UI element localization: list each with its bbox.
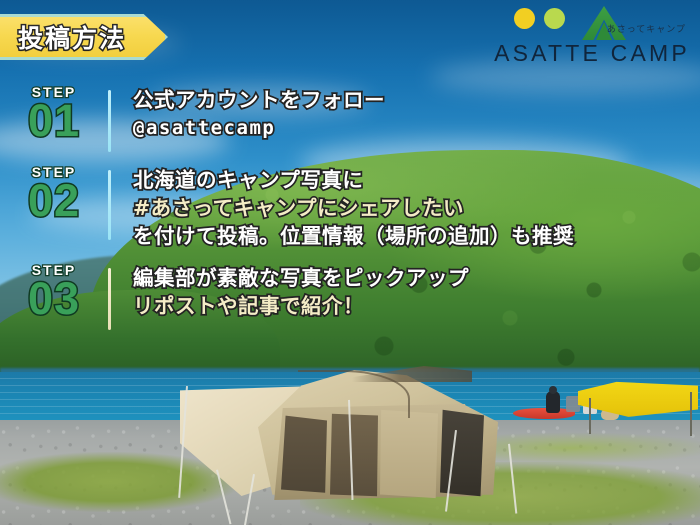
- logo-dots: [514, 8, 565, 29]
- step-number: 02: [0, 178, 108, 224]
- yellow-circle-icon: [514, 8, 535, 29]
- logo: あさってキャンプ ASATTE CAMP: [486, 6, 692, 68]
- step-number: 03: [0, 276, 108, 322]
- step-line: 編集部が素敵な写真をピックアップ: [133, 264, 700, 292]
- step-item: STEP 01 公式アカウントをフォロー @asattecamp: [0, 84, 700, 152]
- logo-subtitle: あさってキャンプ: [607, 22, 686, 35]
- steps-list: STEP 01 公式アカウントをフォロー @asattecamp STEP 02…: [0, 84, 700, 342]
- step-body: 編集部が素敵な写真をピックアップ リポストや記事で紹介！: [133, 262, 700, 320]
- step-divider: [108, 90, 111, 152]
- step-line-handle: @asattecamp: [133, 114, 700, 142]
- step-line: を付けて投稿。位置情報（場所の追加）も推奨: [133, 222, 700, 250]
- poster: 投稿方法 あさってキャンプ ASATTE CAMP STEP 01 公式アカウン…: [0, 0, 700, 525]
- step-line: リポストや記事で紹介！: [133, 292, 700, 320]
- page-title: 投稿方法: [18, 19, 126, 55]
- step-body: 北海道のキャンプ写真に #あさってキャンプにシェアしたい を付けて投稿。位置情報…: [133, 164, 700, 250]
- step-number-column: STEP 01: [0, 84, 108, 144]
- green-circle-icon: [544, 8, 565, 29]
- step-body: 公式アカウントをフォロー @asattecamp: [133, 84, 700, 142]
- step-number: 01: [0, 98, 108, 144]
- step-item: STEP 02 北海道のキャンプ写真に #あさってキャンプにシェアしたい を付け…: [0, 164, 700, 250]
- logo-wordmark: ASATTE CAMP: [492, 40, 692, 67]
- step-number-column: STEP 03: [0, 262, 108, 322]
- step-line: 北海道のキャンプ写真に: [133, 166, 700, 194]
- step-item: STEP 03 編集部が素敵な写真をピックアップ リポストや記事で紹介！: [0, 262, 700, 330]
- step-line: 公式アカウントをフォロー: [133, 86, 700, 114]
- step-number-column: STEP 02: [0, 164, 108, 224]
- step-line-hashtag: #あさってキャンプにシェアしたい: [133, 194, 700, 222]
- step-divider: [108, 268, 111, 330]
- step-divider: [108, 170, 111, 240]
